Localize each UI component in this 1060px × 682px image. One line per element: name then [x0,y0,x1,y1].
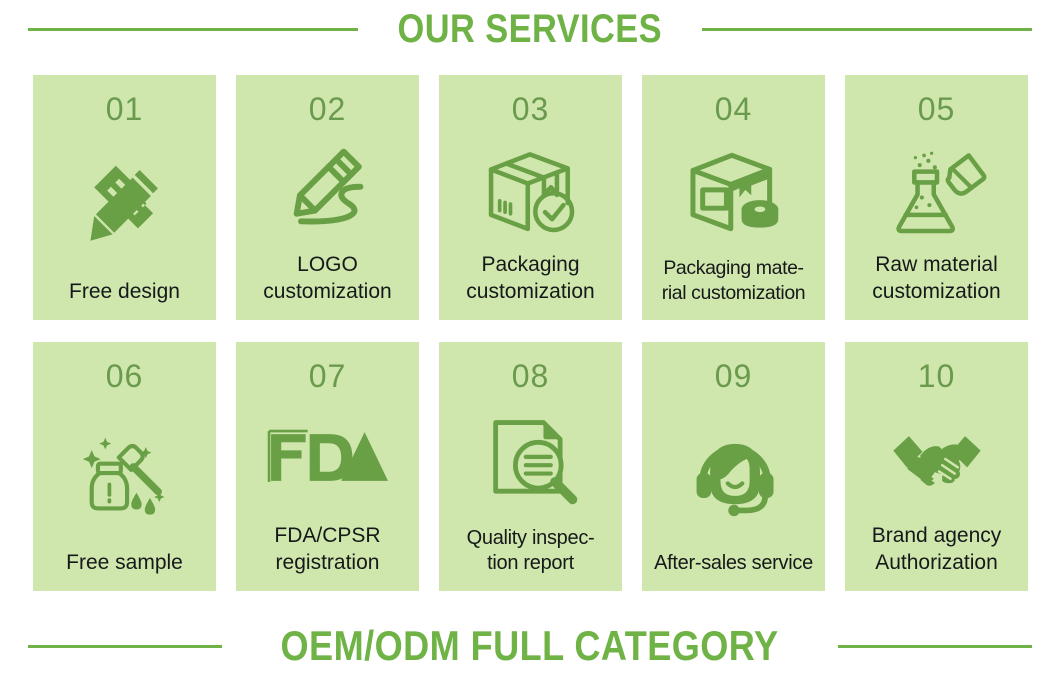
service-card-05[interactable]: 05 [845,75,1028,320]
service-card-07[interactable]: 07 [236,342,419,591]
page-title: OUR SERVICES [398,9,663,49]
dropper-bottle-icon [39,394,210,550]
service-card-04[interactable]: 04 [642,75,825,320]
service-card-01[interactable]: 01 Free design [33,75,216,320]
service-card-09[interactable]: 09 [642,342,825,591]
card-label: Raw material customization [851,252,1022,310]
card-number: 03 [512,93,550,125]
pencil-ruler-icon [39,127,210,279]
card-label: Free design [39,279,210,310]
card-label: FDA/CPSR registration [242,523,413,581]
card-label: LOGO customization [242,252,413,310]
services-grid: 01 Free design [33,75,1027,591]
service-card-06[interactable]: 06 [33,342,216,591]
card-label: Free sample [39,550,210,581]
fda-logo-icon [242,394,413,523]
box-check-icon [445,127,616,252]
card-label: Quality inspec- tion report [445,526,616,581]
card-label: After-sales service [648,551,819,581]
card-number: 10 [918,360,956,392]
pencil-signature-icon [242,127,413,252]
handshake-icon [851,394,1022,523]
bottom-section-header: OEM/ODM FULL CATEGORY [0,610,1060,682]
card-number: 01 [106,93,144,125]
card-label: Packaging customization [445,252,616,310]
card-label: Packaging mate- rial customization [648,256,819,310]
card-number: 09 [715,360,753,392]
box-tape-icon [648,127,819,256]
card-number: 07 [309,360,347,392]
header-rule-left [28,28,358,31]
service-card-02[interactable]: 02 LOGO customization [236,75,419,320]
services-page: OUR SERVICES 01 [0,0,1060,682]
card-number: 05 [918,93,956,125]
document-magnifier-icon [445,394,616,526]
card-number: 02 [309,93,347,125]
card-number: 04 [715,93,753,125]
card-number: 08 [512,360,550,392]
footer-rule-right [838,645,1032,648]
footer-title: OEM/ODM FULL CATEGORY [281,625,779,667]
footer-rule-left [28,645,222,648]
top-section-header: OUR SERVICES [0,0,1060,58]
headset-agent-icon [648,394,819,551]
flask-testtube-icon [851,127,1022,252]
service-card-10[interactable]: 10 [845,342,1028,591]
card-label: Brand agency Authorization [851,523,1022,581]
service-card-03[interactable]: 03 [439,75,622,320]
header-rule-right [702,28,1032,31]
service-card-08[interactable]: 08 [439,342,622,591]
card-number: 06 [106,360,144,392]
